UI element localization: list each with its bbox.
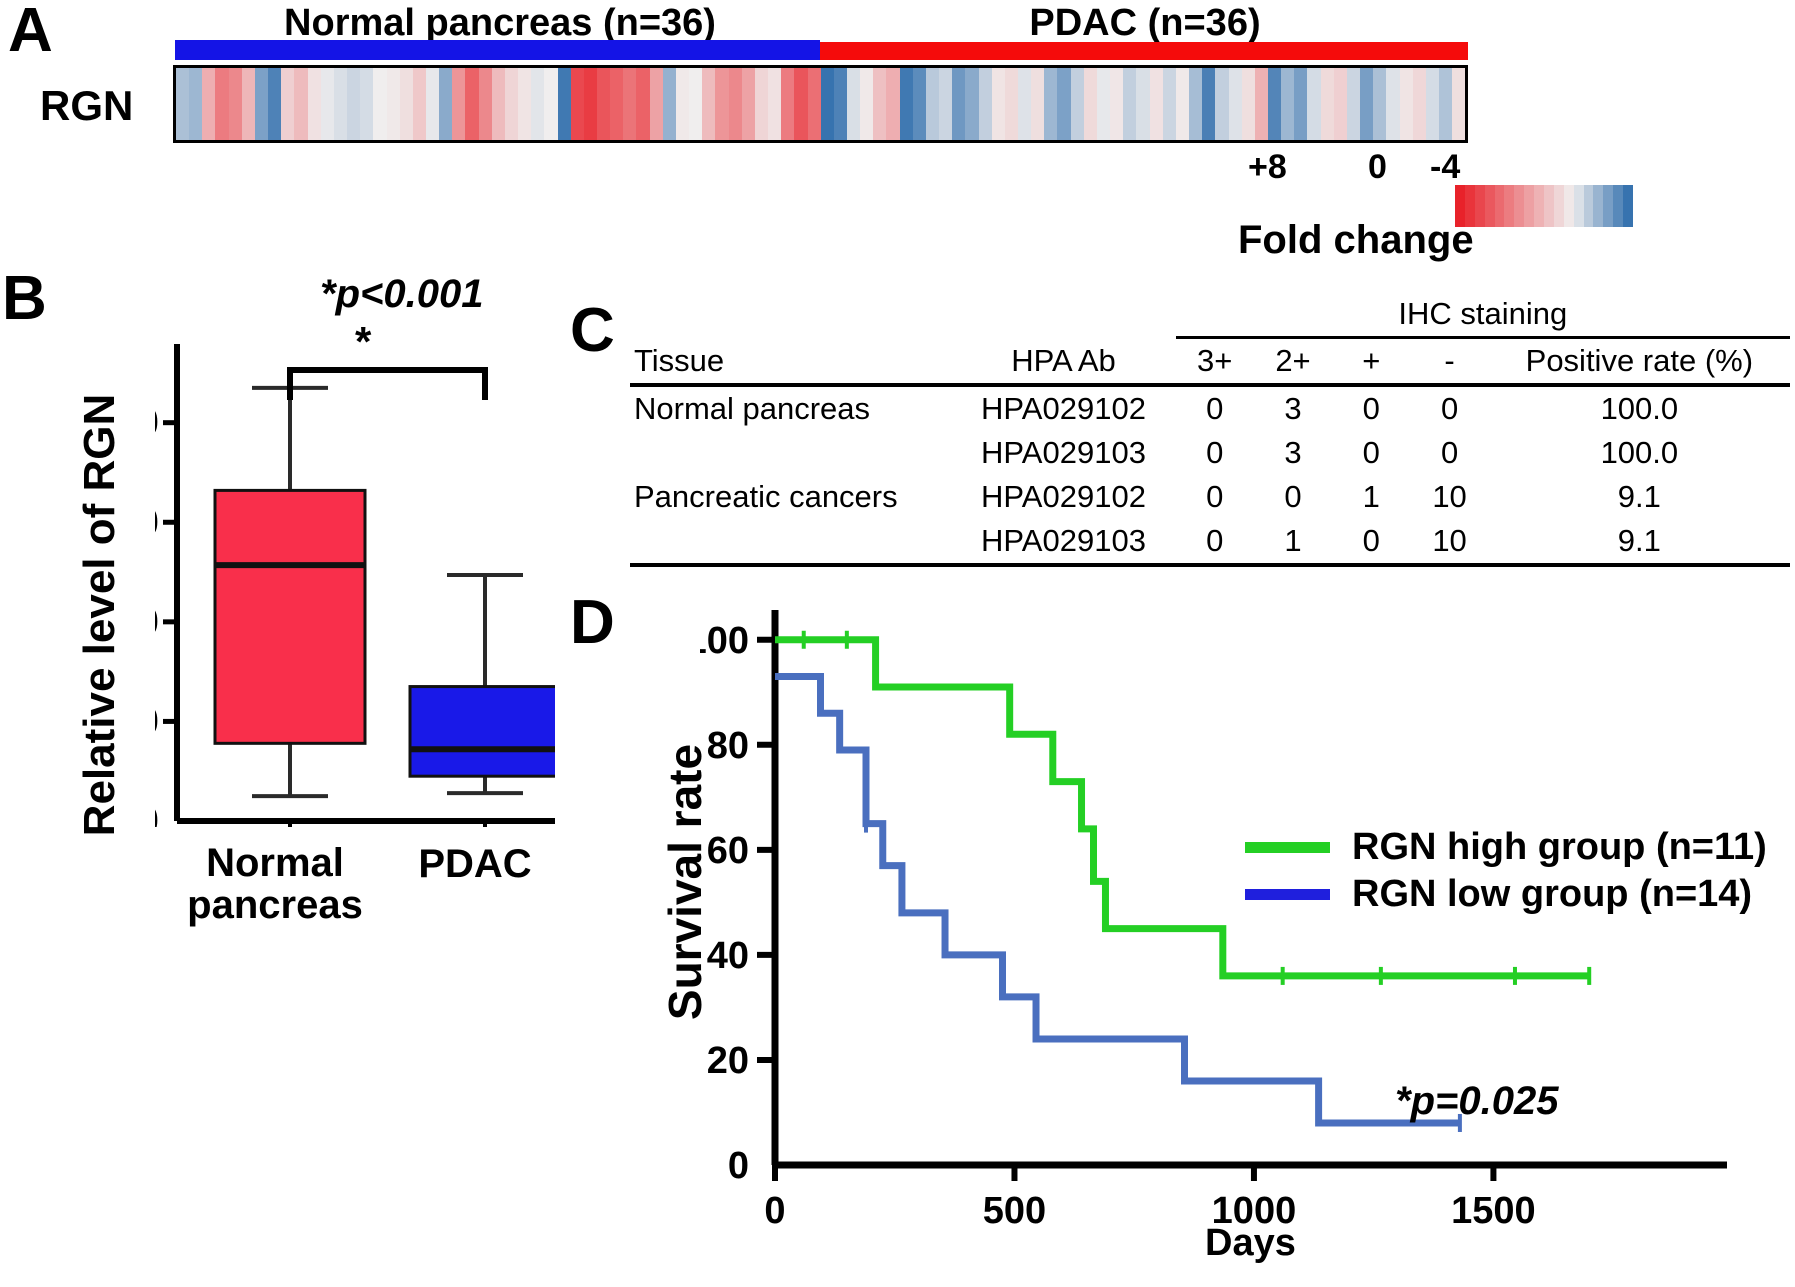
colorscale-swatch xyxy=(1514,185,1524,227)
panel-b-letter: B xyxy=(2,268,47,330)
heatmap-cell xyxy=(1097,68,1110,140)
legend-swatch-high xyxy=(1245,842,1330,853)
heatmap-cell xyxy=(781,68,794,140)
heatmap-cell xyxy=(1084,68,1097,140)
colorscale-bar xyxy=(1455,185,1633,227)
heatmap-cell xyxy=(1386,68,1399,140)
heatmap-cell xyxy=(347,68,360,140)
heatmap-cell xyxy=(886,68,899,140)
heatmap-cell xyxy=(1229,68,1242,140)
panel-b-svg: 4.03.02.01.00 xyxy=(155,340,555,827)
heatmap-cell xyxy=(808,68,821,140)
cell-positive-rate: 9.1 xyxy=(1489,475,1790,519)
heatmap-cell xyxy=(900,68,913,140)
heatmap-cell xyxy=(1136,68,1149,140)
cell-2plus: 3 xyxy=(1254,385,1332,431)
heatmap-cell xyxy=(834,68,847,140)
heatmap-cell xyxy=(439,68,452,140)
heatmap-cell xyxy=(913,68,926,140)
colorscale-swatch xyxy=(1534,185,1544,227)
heatmap-cell xyxy=(571,68,584,140)
colorscale-swatch xyxy=(1584,185,1594,227)
heatmap-cell xyxy=(636,68,649,140)
significance-bracket xyxy=(290,370,485,400)
panel-b-y-tick-label: 1.0 xyxy=(155,699,159,743)
panel-b-y-tick-label: 2.0 xyxy=(155,600,159,644)
panel-d-y-tick-label: 60 xyxy=(707,830,749,872)
heatmap-cell xyxy=(1307,68,1320,140)
panel-d-x-tick-label: 500 xyxy=(983,1190,1046,1232)
heatmap-cell xyxy=(308,68,321,140)
panel-b-xlabel-normal: Normal pancreas xyxy=(175,842,375,926)
colorscale-swatch xyxy=(1504,185,1514,227)
colorscale-swatch xyxy=(1613,185,1623,227)
heatmap-cell xyxy=(1018,68,1031,140)
cell-minus: 0 xyxy=(1410,385,1488,431)
boxplot-rect xyxy=(215,490,365,743)
panel-c-ihc-table: Tissue HPA Ab IHC staining 3+ 2+ + - Pos… xyxy=(630,292,1790,569)
panel-b-y-tick-label: 3.0 xyxy=(155,500,159,544)
cell-2plus: 1 xyxy=(1254,519,1332,565)
panel-b-y-tick-label: 4.0 xyxy=(155,401,159,445)
table-bottom-rule xyxy=(630,565,1790,569)
colorscale-swatch xyxy=(1554,185,1564,227)
heatmap-cell xyxy=(1255,68,1268,140)
heatmap-cell xyxy=(847,68,860,140)
heatmap-cell xyxy=(1400,68,1413,140)
panel-a-letter: A xyxy=(8,0,53,62)
panel-b-xlabel-pdac: PDAC xyxy=(375,842,575,887)
heatmap-cell xyxy=(518,68,531,140)
heatmap-cell xyxy=(1176,68,1189,140)
heatmap-cell xyxy=(281,68,294,140)
col-header-ihc-staining: IHC staining xyxy=(1176,292,1790,338)
col-header-positive-rate: Positive rate (%) xyxy=(1489,338,1790,386)
panel-d-y-tick-label: 80 xyxy=(707,725,749,767)
col-header-hpa-ab: HPA Ab xyxy=(951,292,1175,385)
colorscale-swatch xyxy=(1603,185,1613,227)
col-header-tissue: Tissue xyxy=(630,292,951,385)
colorscale-swatch xyxy=(1495,185,1505,227)
col-header-3plus: 3+ xyxy=(1176,338,1254,386)
heatmap-cell xyxy=(1044,68,1057,140)
heatmap-cell xyxy=(215,68,228,140)
colorscale-tick-high: +8 xyxy=(1248,148,1287,187)
heatmap-cell xyxy=(1110,68,1123,140)
panel-b-y-axis-label: Relative level of RGN xyxy=(75,345,125,885)
heatmap-cell xyxy=(821,68,834,140)
legend-label-low: RGN low group (n=14) xyxy=(1352,873,1752,916)
heatmap-cell xyxy=(992,68,1005,140)
table-row: HPA029103 0 1 0 10 9.1 xyxy=(630,519,1790,565)
heatmap-cell xyxy=(176,68,189,140)
cell-3plus: 0 xyxy=(1176,385,1254,431)
cell-ab: HPA029102 xyxy=(951,385,1175,431)
legend-item-high: RGN high group (n=11) xyxy=(1245,826,1767,869)
heatmap-cell xyxy=(623,68,636,140)
panel-a-pdac-group-bar xyxy=(820,42,1468,60)
heatmap-cell xyxy=(689,68,702,140)
heatmap-cell xyxy=(1373,68,1386,140)
heatmap-cell xyxy=(1242,68,1255,140)
legend-item-low: RGN low group (n=14) xyxy=(1245,873,1767,916)
colorscale-swatch xyxy=(1544,185,1554,227)
heatmap-cell xyxy=(1360,68,1373,140)
colorscale-swatch xyxy=(1485,185,1495,227)
cell-positive-rate: 100.0 xyxy=(1489,385,1790,431)
colorscale-swatch xyxy=(1475,185,1485,227)
panel-b-y-tick-label: 0 xyxy=(155,799,159,827)
heatmap-cell xyxy=(610,68,623,140)
colorscale-swatch xyxy=(1524,185,1534,227)
cell-2plus: 0 xyxy=(1254,475,1332,519)
panel-d-y-tick-label: 0 xyxy=(728,1145,749,1187)
cell-tissue: Pancreatic cancers xyxy=(630,475,951,519)
panel-a-normal-group-title: Normal pancreas (n=36) xyxy=(175,2,825,45)
heatmap-cell xyxy=(373,68,386,140)
panel-c-letter: C xyxy=(570,300,615,362)
colorscale-tick-low: -4 xyxy=(1430,148,1460,187)
heatmap-cell xyxy=(1071,68,1084,140)
cell-ab: HPA029103 xyxy=(951,519,1175,565)
panel-d-y-tick-label: 20 xyxy=(707,1040,749,1082)
panel-b-pvalue: *p<0.001 xyxy=(320,272,483,317)
legend-label-high: RGN high group (n=11) xyxy=(1352,826,1767,869)
heatmap-cell xyxy=(229,68,242,140)
boxplot-box xyxy=(215,388,365,796)
heatmap-cell xyxy=(189,68,202,140)
table-header-group-row: Tissue HPA Ab IHC staining xyxy=(630,292,1790,338)
cell-positive-rate: 9.1 xyxy=(1489,519,1790,565)
cell-minus: 10 xyxy=(1410,519,1488,565)
cell-2plus: 3 xyxy=(1254,431,1332,475)
cell-ab: HPA029102 xyxy=(951,475,1175,519)
heatmap-cell xyxy=(1202,68,1215,140)
heatmap-cell xyxy=(1150,68,1163,140)
heatmap-cell xyxy=(952,68,965,140)
heatmap-cell xyxy=(400,68,413,140)
heatmap-cell xyxy=(755,68,768,140)
table-row: Normal pancreas HPA029102 0 3 0 0 100.0 xyxy=(630,385,1790,431)
heatmap-cell xyxy=(558,68,571,140)
panel-d-y-tick-label: 100 xyxy=(700,620,749,662)
col-header-2plus: 2+ xyxy=(1254,338,1332,386)
heatmap-cell xyxy=(334,68,347,140)
heatmap-cell xyxy=(387,68,400,140)
colorscale-ticks: +8 0 -4 xyxy=(1240,148,1670,188)
heatmap-cell xyxy=(939,68,952,140)
colorscale-swatch xyxy=(1574,185,1584,227)
heatmap-cell xyxy=(702,68,715,140)
cell-plus: 0 xyxy=(1332,385,1410,431)
heatmap-cell xyxy=(1163,68,1176,140)
panel-b-boxplot: 4.03.02.01.00 xyxy=(155,340,555,825)
heatmap-cell xyxy=(268,68,281,140)
panel-d-x-tick-label: 1500 xyxy=(1451,1190,1536,1232)
panel-d-y-tick-label: 40 xyxy=(707,935,749,977)
panel-a-heatmap xyxy=(173,65,1468,143)
heatmap-cell xyxy=(1294,68,1307,140)
panel-b-xlabel-normal-line2: pancreas xyxy=(175,884,375,926)
heatmap-cell xyxy=(1281,68,1294,140)
heatmap-cell xyxy=(873,68,886,140)
cell-minus: 10 xyxy=(1410,475,1488,519)
heatmap-cell xyxy=(715,68,728,140)
panel-d-legend: RGN high group (n=11) RGN low group (n=1… xyxy=(1245,826,1767,920)
col-header-minus: - xyxy=(1410,338,1488,386)
heatmap-cell xyxy=(452,68,465,140)
heatmap-cell xyxy=(242,68,255,140)
heatmap-cell xyxy=(1005,68,1018,140)
cell-plus: 0 xyxy=(1332,519,1410,565)
cell-tissue xyxy=(630,431,951,475)
heatmap-cell xyxy=(1321,68,1334,140)
survival-curve xyxy=(775,640,1589,976)
heatmap-cell xyxy=(768,68,781,140)
cell-3plus: 0 xyxy=(1176,431,1254,475)
colorscale-swatch xyxy=(1593,185,1603,227)
heatmap-cell xyxy=(413,68,426,140)
heatmap-cell xyxy=(479,68,492,140)
heatmap-cell xyxy=(1189,68,1202,140)
heatmap-cell xyxy=(321,68,334,140)
cell-ab: HPA029103 xyxy=(951,431,1175,475)
heatmap-cell xyxy=(663,68,676,140)
heatmap-cell xyxy=(979,68,992,140)
col-header-plus: + xyxy=(1332,338,1410,386)
cell-tissue: Normal pancreas xyxy=(630,385,951,431)
heatmap-cell xyxy=(676,68,689,140)
heatmap-cell xyxy=(1347,68,1360,140)
boxplot-rect xyxy=(410,687,555,777)
panel-d-pvalue: *p=0.025 xyxy=(1395,1079,1558,1124)
legend-swatch-low xyxy=(1245,889,1330,900)
heatmap-cell xyxy=(597,68,610,140)
panel-d-x-axis-label: Days xyxy=(1205,1222,1296,1265)
cell-3plus: 0 xyxy=(1176,475,1254,519)
panel-d-x-tick-label: 0 xyxy=(764,1190,785,1232)
heatmap-cell xyxy=(255,68,268,140)
heatmap-cell xyxy=(860,68,873,140)
panel-a-normal-group-bar xyxy=(175,40,820,60)
cell-3plus: 0 xyxy=(1176,519,1254,565)
cell-positive-rate: 100.0 xyxy=(1489,431,1790,475)
panel-b-xlabel-normal-line1: Normal xyxy=(175,842,375,884)
heatmap-cell xyxy=(1426,68,1439,140)
cell-plus: 1 xyxy=(1332,475,1410,519)
heatmap-cell xyxy=(294,68,307,140)
colorscale-tick-mid: 0 xyxy=(1368,148,1387,187)
heatmap-cell xyxy=(492,68,505,140)
panel-a-row-label: RGN xyxy=(40,82,133,130)
cell-plus: 0 xyxy=(1332,431,1410,475)
panel-d-survival-chart: 100806040200050010001500 xyxy=(700,600,1795,1260)
heatmap-cell xyxy=(1215,68,1228,140)
heatmap-cell xyxy=(505,68,518,140)
colorscale-caption: Fold change xyxy=(1238,218,1474,263)
cell-minus: 0 xyxy=(1410,431,1488,475)
heatmap-cell xyxy=(426,68,439,140)
heatmap-cell xyxy=(650,68,663,140)
cell-tissue xyxy=(630,519,951,565)
heatmap-cell xyxy=(1268,68,1281,140)
boxplot-box xyxy=(410,575,555,793)
heatmap-cell xyxy=(465,68,478,140)
heatmap-cell xyxy=(926,68,939,140)
colorscale-swatch xyxy=(1623,185,1633,227)
panel-d-svg: 100806040200050010001500 xyxy=(700,600,1795,1260)
heatmap-cell xyxy=(202,68,215,140)
panel-a-pdac-group-title: PDAC (n=36) xyxy=(820,2,1470,45)
heatmap-cell xyxy=(742,68,755,140)
heatmap-cell xyxy=(360,68,373,140)
heatmap-cell xyxy=(544,68,557,140)
heatmap-cell xyxy=(1031,68,1044,140)
heatmap-cell xyxy=(1123,68,1136,140)
heatmap-cell xyxy=(1439,68,1452,140)
colorscale-swatch xyxy=(1564,185,1574,227)
heatmap-cell xyxy=(1452,68,1465,140)
heatmap-cell xyxy=(794,68,807,140)
heatmap-cell xyxy=(965,68,978,140)
heatmap-cell xyxy=(1334,68,1347,140)
heatmap-cell xyxy=(1413,68,1426,140)
heatmap-cell xyxy=(584,68,597,140)
table-row: HPA029103 0 3 0 0 100.0 xyxy=(630,431,1790,475)
table-row: Pancreatic cancers HPA029102 0 0 1 10 9.… xyxy=(630,475,1790,519)
heatmap-cell xyxy=(729,68,742,140)
panel-d-letter: D xyxy=(570,592,615,654)
heatmap-cell xyxy=(1057,68,1070,140)
heatmap-cell xyxy=(531,68,544,140)
